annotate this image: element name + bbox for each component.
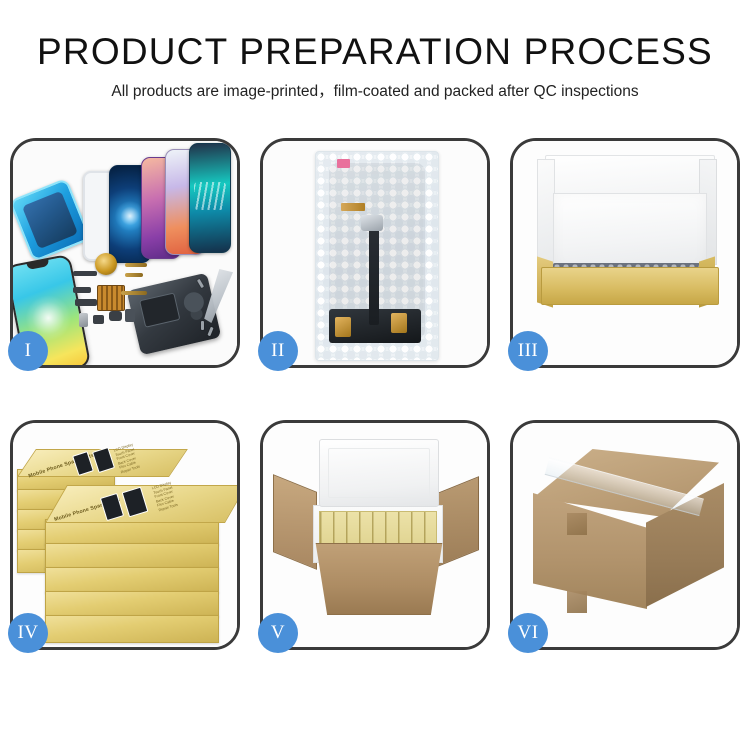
process-step-grid: I II bbox=[10, 138, 740, 650]
process-step-panel-5[interactable]: V bbox=[260, 420, 490, 650]
carton-seam-tab bbox=[567, 513, 587, 535]
page-title: PRODUCT PREPARATION PROCESS bbox=[0, 30, 750, 74]
step-badge-4: IV bbox=[8, 613, 48, 653]
speaker-coil-part bbox=[95, 253, 117, 275]
panel-image-clip-6 bbox=[513, 423, 737, 647]
chip-grid-part bbox=[97, 285, 125, 311]
flex-cable-part bbox=[125, 273, 143, 277]
connector-part bbox=[361, 215, 383, 231]
small-part bbox=[79, 313, 88, 327]
carton-seam-tab bbox=[567, 591, 587, 613]
process-step-panel-1[interactable]: I bbox=[10, 138, 240, 368]
step-badge-5: V bbox=[258, 613, 298, 653]
page-subtitle: All products are image-printed，film-coat… bbox=[0, 82, 750, 102]
stacked-printed-retail-boxes-photo: Mobile Phone Spare Parts LCD Display Tou… bbox=[13, 423, 237, 647]
gold-tray-front-wall bbox=[541, 267, 719, 305]
panel-image-clip-4: Mobile Phone Spare Parts LCD Display Tou… bbox=[13, 423, 237, 647]
step-badge-6: VI bbox=[508, 613, 548, 653]
small-part bbox=[73, 271, 97, 276]
gold-contact-pad bbox=[335, 317, 351, 337]
small-part bbox=[109, 311, 122, 321]
process-step-panel-4[interactable]: Mobile Phone Spare Parts LCD Display Tou… bbox=[10, 420, 240, 650]
retail-box bbox=[45, 567, 219, 593]
phone-screens-and-spare-parts-photo bbox=[13, 141, 237, 365]
battery-part bbox=[125, 309, 135, 322]
panel-image-clip-2 bbox=[263, 141, 487, 365]
flex-cable-part bbox=[121, 291, 147, 295]
pink-label-sticker bbox=[337, 159, 350, 168]
carton-body bbox=[307, 543, 451, 615]
gold-box-with-foam-padding-photo bbox=[513, 141, 737, 365]
panel-image-clip-3 bbox=[513, 141, 737, 365]
process-step-panel-6[interactable]: VI bbox=[510, 420, 740, 650]
panel-image-clip-1 bbox=[13, 141, 237, 365]
page-header: PRODUCT PREPARATION PROCESS All products… bbox=[0, 0, 750, 102]
process-step-panel-2[interactable]: II bbox=[260, 138, 490, 368]
retail-box bbox=[45, 615, 219, 643]
small-part bbox=[73, 287, 91, 293]
step-badge-3: III bbox=[508, 331, 548, 371]
flex-cable-part bbox=[125, 263, 147, 267]
adhesive-film-item bbox=[13, 178, 91, 262]
teal-display-item bbox=[189, 143, 231, 253]
white-foam-sheet bbox=[553, 193, 707, 271]
step-badge-1: I bbox=[8, 331, 48, 371]
retail-box bbox=[45, 591, 219, 617]
flex-cable-strip bbox=[369, 221, 379, 325]
sealed-shipping-carton-photo bbox=[513, 423, 737, 647]
tape-strip bbox=[341, 203, 365, 211]
panel-image-clip-5 bbox=[263, 423, 487, 647]
screen-wrapped-in-bubble-wrap-photo bbox=[263, 141, 487, 365]
small-part bbox=[93, 315, 104, 324]
process-step-panel-3[interactable]: III bbox=[510, 138, 740, 368]
gold-contact-pad bbox=[391, 313, 407, 333]
step-badge-2: II bbox=[258, 331, 298, 371]
foam-lid-open bbox=[319, 439, 439, 507]
carton-packed-with-boxes-photo bbox=[263, 423, 487, 647]
carton-flap-left bbox=[273, 474, 317, 570]
retail-box bbox=[45, 543, 219, 569]
small-part bbox=[75, 299, 97, 306]
screw-part bbox=[201, 321, 204, 330]
